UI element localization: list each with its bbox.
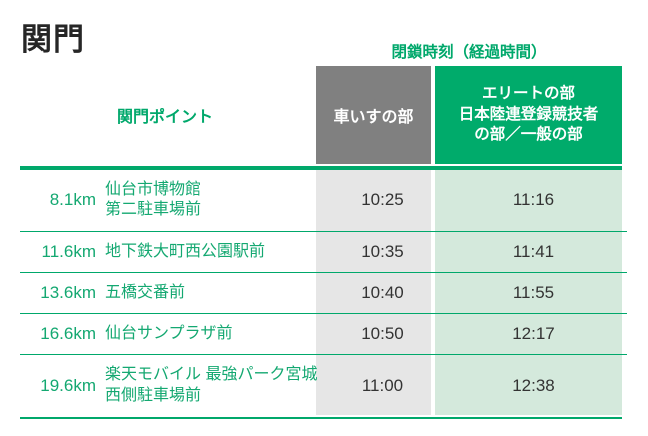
checkpoint-distance: 8.1km (20, 170, 105, 232)
wheelchair-closing-time: 10:35 (325, 232, 440, 273)
checkpoint-place-line: 楽天モバイル 最強パーク宮城 (105, 365, 325, 385)
wheelchair-closing-time: 10:50 (325, 314, 440, 355)
checkpoint-place: 仙台サンプラザ前 (105, 314, 325, 355)
table-bottom-rule (20, 417, 622, 419)
checkpoint-distance: 16.6km (20, 314, 105, 355)
wheelchair-closing-time: 11:00 (325, 355, 440, 417)
elite-closing-time: 12:38 (440, 355, 627, 417)
table-row: 13.6km 五橋交番前 10:40 11:55 (20, 273, 627, 314)
column-header-elite-line-2: 日本陸連登録競技者 (459, 105, 599, 125)
checkpoint-distance: 13.6km (20, 273, 105, 314)
table-row: 11.6km 地下鉄大町西公園駅前 10:35 11:41 (20, 232, 627, 273)
checkpoint-place-line: 西側駐車場前 (105, 386, 325, 406)
column-header-checkpoint: 関門ポイント (20, 66, 310, 164)
column-header-elite-line-3: の部／一般の部 (474, 125, 583, 145)
checkpoint-table-page: 関門 閉鎖時刻（経過時間） 関門ポイント 車いすの部 エリートの部 日本陸連登録… (0, 0, 648, 436)
elite-closing-time: 12:17 (440, 314, 627, 355)
checkpoint-place-line: 仙台サンプラザ前 (105, 324, 325, 344)
checkpoint-place-line: 第二駐車場前 (105, 200, 325, 220)
table-row: 8.1km 仙台市博物館 第二駐車場前 10:25 11:16 (20, 170, 627, 232)
checkpoint-place: 仙台市博物館 第二駐車場前 (105, 170, 325, 232)
checkpoint-table: 8.1km 仙台市博物館 第二駐車場前 10:25 11:16 11.6km 地… (20, 170, 627, 417)
page-title: 関門 (21, 24, 85, 57)
checkpoint-place: 楽天モバイル 最強パーク宮城 西側駐車場前 (105, 355, 325, 417)
table-row: 16.6km 仙台サンプラザ前 10:50 12:17 (20, 314, 627, 355)
checkpoint-distance: 11.6km (20, 232, 105, 273)
elite-closing-time: 11:16 (440, 170, 627, 232)
checkpoint-distance: 19.6km (20, 355, 105, 417)
elite-closing-time: 11:55 (440, 273, 627, 314)
wheelchair-closing-time: 10:40 (325, 273, 440, 314)
elite-closing-time: 11:41 (440, 232, 627, 273)
wheelchair-closing-time: 10:25 (325, 170, 440, 232)
checkpoint-place: 五橋交番前 (105, 273, 325, 314)
checkpoint-place: 地下鉄大町西公園駅前 (105, 232, 325, 273)
table-row: 19.6km 楽天モバイル 最強パーク宮城 西側駐車場前 11:00 12:38 (20, 355, 627, 417)
closing-time-caption: 閉鎖時刻（経過時間） (316, 40, 622, 62)
column-header-wheelchair: 車いすの部 (316, 66, 431, 164)
checkpoint-place-line: 仙台市博物館 (105, 180, 325, 200)
checkpoint-place-line: 地下鉄大町西公園駅前 (105, 242, 325, 262)
column-header-elite-line-1: エリートの部 (482, 84, 575, 104)
checkpoint-place-line: 五橋交番前 (105, 283, 325, 303)
column-header-elite: エリートの部 日本陸連登録競技者 の部／一般の部 (435, 66, 622, 164)
